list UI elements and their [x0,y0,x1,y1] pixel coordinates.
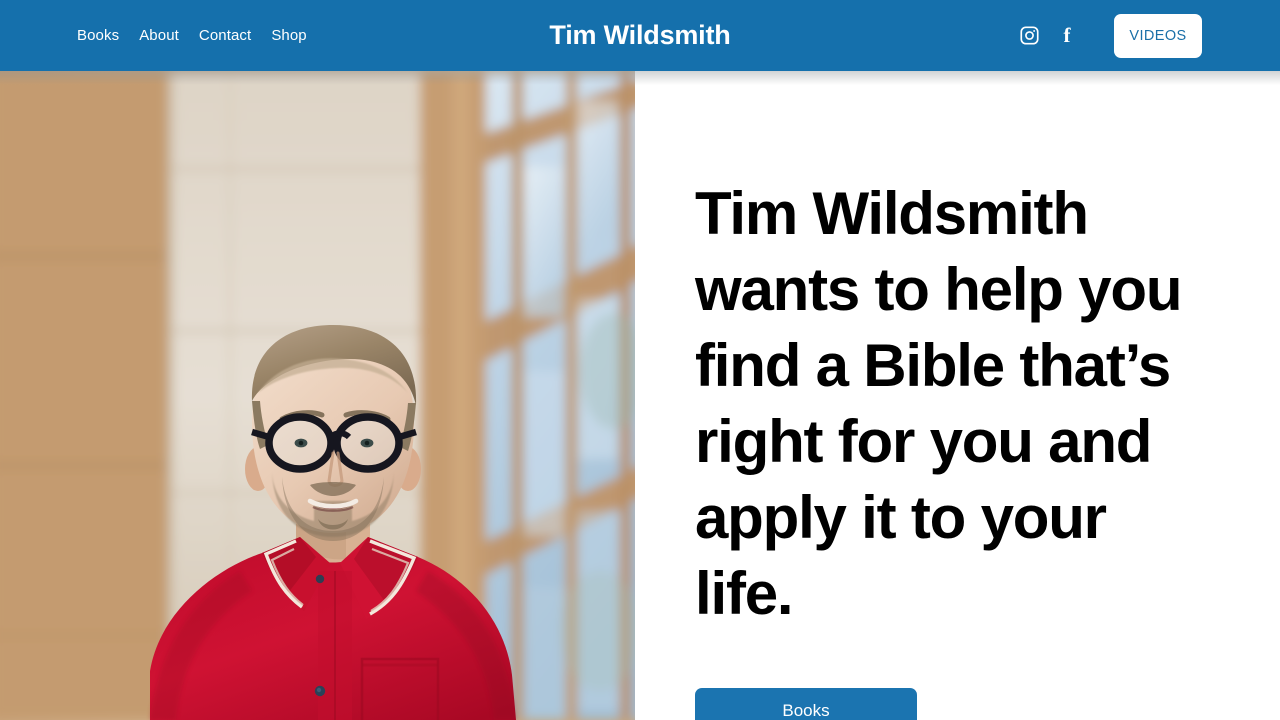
nav-item-shop[interactable]: Shop [271,28,306,43]
hero-portrait-photo [0,71,635,720]
nav-item-about[interactable]: About [139,28,179,43]
page-root: Books About Contact Shop Tim Wildsmith f… [0,0,1280,720]
site-header: Books About Contact Shop Tim Wildsmith f… [0,0,1280,71]
facebook-icon[interactable]: f [1048,17,1086,55]
hero-heading: Tim Wildsmith wants to help you find a B… [695,176,1185,632]
portrait-illustration [0,71,635,720]
nav-item-books[interactable]: Books [77,28,119,43]
primary-navigation: Books About Contact Shop [77,0,307,71]
books-cta-button[interactable]: Books [695,688,917,720]
facebook-f-glyph: f [1064,25,1071,46]
header-actions: f VIDEOS [1010,0,1202,71]
hero-copy: Tim Wildsmith wants to help you find a B… [695,71,1195,720]
nav-item-contact[interactable]: Contact [199,28,251,43]
videos-button[interactable]: VIDEOS [1114,14,1202,58]
instagram-icon[interactable] [1010,17,1048,55]
